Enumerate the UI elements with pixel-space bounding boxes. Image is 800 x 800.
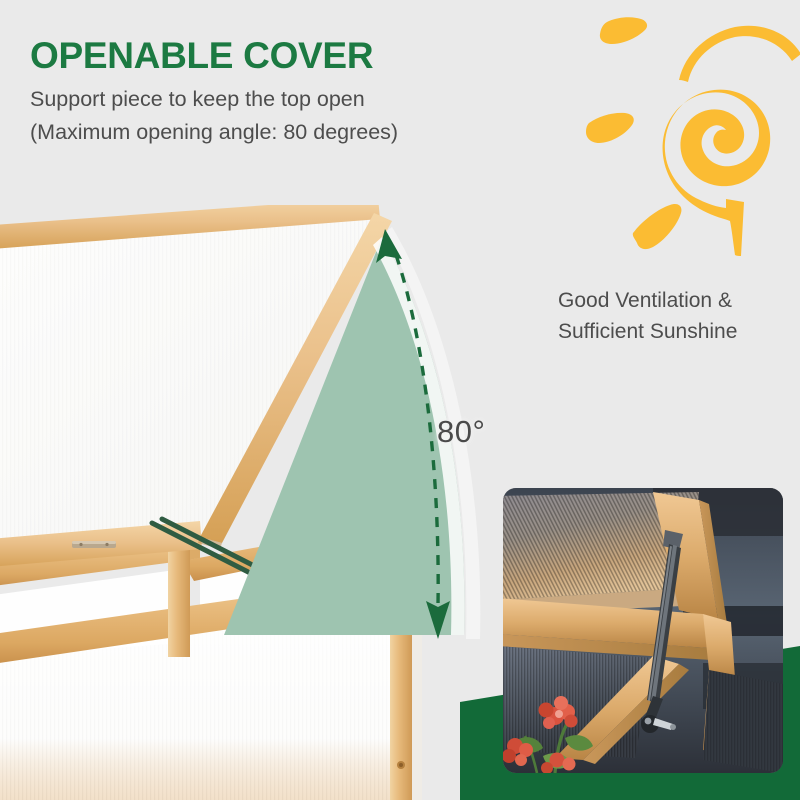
headline-block: OPENABLE COVER Support piece to keep the… [30, 36, 550, 147]
side-caption-line-2: Sufficient Sunshine [558, 316, 798, 347]
angle-value-label: 80° [437, 414, 485, 450]
page-title: OPENABLE COVER [30, 36, 550, 75]
cold-frame-product-image [0, 205, 506, 800]
subtitle-line-2: (Maximum opening angle: 80 degrees) [30, 115, 550, 148]
side-caption-line-1: Good Ventilation & [558, 285, 798, 316]
product-feature-slide: OPENABLE COVER Support piece to keep the… [0, 0, 800, 800]
gas-strut-detail-photo [503, 488, 783, 773]
side-caption: Good Ventilation & Sufficient Sunshine [558, 285, 798, 347]
subtitle-line-1: Support piece to keep the top open [30, 75, 550, 115]
